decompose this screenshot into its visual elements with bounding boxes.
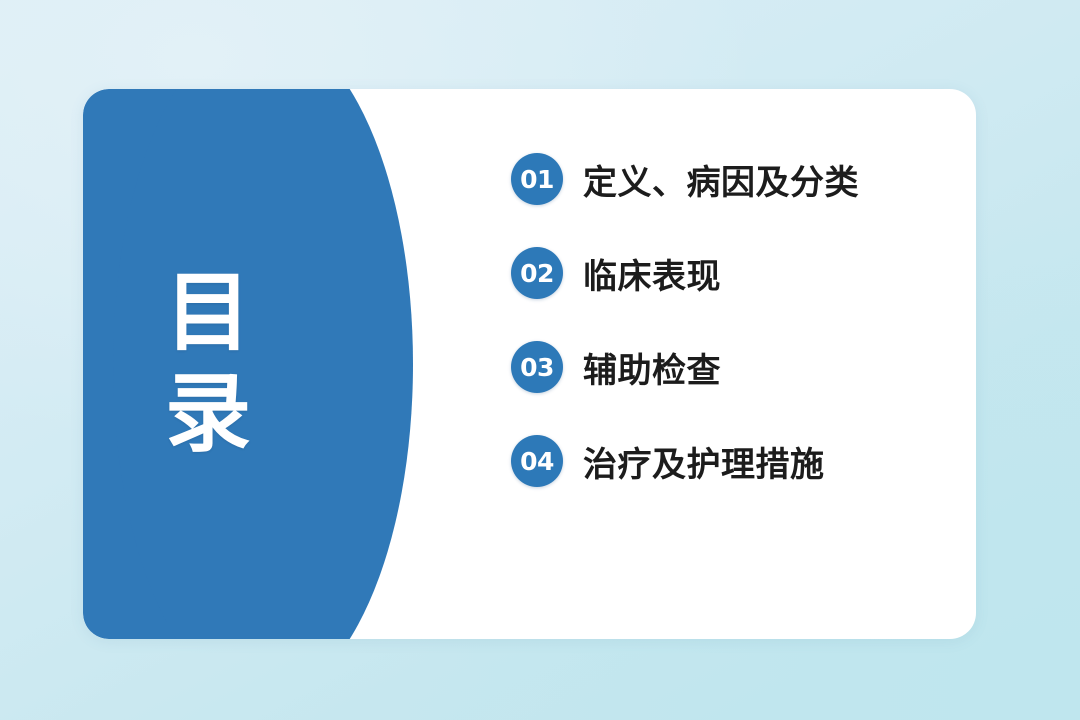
slide-canvas: 目 录 01 定义、病因及分类 02 临床表现 03 辅助检查 04 治疗及护理… [0, 0, 1080, 720]
agenda-number-badge: 03 [511, 341, 563, 393]
agenda-item-01[interactable]: 01 定义、病因及分类 [511, 151, 951, 207]
agenda-number-badge: 04 [511, 435, 563, 487]
agenda-item-label: 定义、病因及分类 [583, 155, 859, 204]
panel-curve-shape [113, 89, 413, 639]
left-accent-panel [83, 89, 333, 639]
agenda-list: 01 定义、病因及分类 02 临床表现 03 辅助检查 04 治疗及护理措施 [511, 151, 951, 489]
agenda-item-03[interactable]: 03 辅助检查 [511, 339, 951, 395]
agenda-item-label: 临床表现 [583, 249, 721, 298]
agenda-number-badge: 01 [511, 153, 563, 205]
agenda-item-02[interactable]: 02 临床表现 [511, 245, 951, 301]
agenda-item-label: 辅助检查 [583, 343, 721, 392]
agenda-item-label: 治疗及护理措施 [583, 437, 825, 486]
agenda-number-badge: 02 [511, 247, 563, 299]
content-card: 目 录 01 定义、病因及分类 02 临床表现 03 辅助检查 04 治疗及护理… [83, 89, 976, 639]
agenda-item-04[interactable]: 04 治疗及护理措施 [511, 433, 951, 489]
